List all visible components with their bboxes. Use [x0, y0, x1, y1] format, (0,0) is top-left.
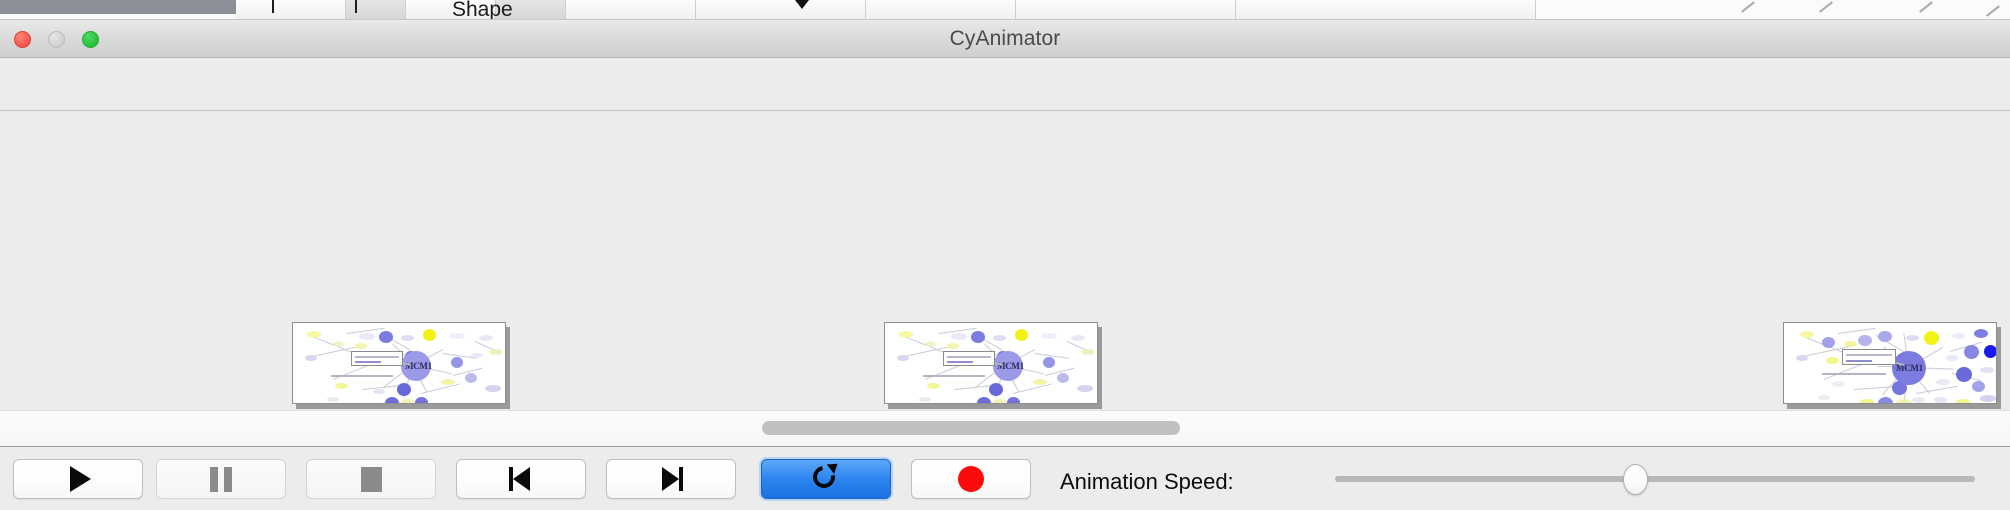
background-cell [236, 0, 346, 20]
background-window-label: Shape [452, 0, 513, 20]
annotation-callout [943, 351, 995, 366]
skip-forward-button[interactable] [606, 459, 736, 499]
loop-button[interactable] [761, 459, 891, 499]
slider-thumb[interactable] [1623, 464, 1648, 495]
background-window-strip: Shape [0, 0, 2010, 20]
frame-thumbnail[interactable]: MCM1 [1783, 322, 1997, 404]
background-diagonal-mark [1819, 1, 1833, 12]
window-title: CyAnimator [0, 20, 2010, 58]
skip-forward-icon [658, 466, 684, 492]
stop-button[interactable] [306, 459, 436, 499]
background-tick [272, 0, 274, 13]
record-icon [958, 466, 984, 492]
play-icon [70, 466, 91, 492]
background-diagonal-mark [1919, 1, 1933, 12]
background-cell [696, 0, 866, 20]
record-button[interactable] [911, 459, 1031, 499]
scrollbar-thumb[interactable] [762, 421, 1180, 435]
pause-icon [210, 467, 232, 492]
network-graph: MCM1 [293, 323, 505, 403]
annotation-callout [351, 351, 403, 366]
loop-icon [811, 464, 841, 494]
animation-speed-label: Animation Speed: [1060, 469, 1234, 495]
skip-back-icon [508, 466, 534, 492]
background-diagonal-mark [1741, 1, 1755, 12]
background-cell [866, 0, 1016, 20]
frame-thumbnail[interactable]: MCM1 [292, 322, 506, 404]
titlebar: CyAnimator [0, 20, 2010, 58]
timeline-scrollbar[interactable] [0, 410, 2010, 446]
pause-button[interactable] [156, 459, 286, 499]
network-graph: MCM1 [1784, 323, 1996, 403]
animation-speed-slider[interactable] [1335, 459, 1975, 499]
stop-icon [361, 467, 382, 492]
background-cell [1236, 0, 1536, 20]
timeline-panel[interactable]: MCM1 [0, 112, 2010, 410]
play-button[interactable] [13, 459, 143, 499]
background-cell [566, 0, 696, 20]
annotation-callout [1842, 349, 1896, 365]
slider-rail [1335, 476, 1975, 482]
cyanimator-window: Shape CyAnimator ✛ Clear All [0, 0, 2010, 510]
background-diagonal-mark [1986, 5, 2000, 16]
background-marker-icon [795, 0, 809, 9]
frame-thumbnail[interactable]: MCM1 [884, 322, 1098, 404]
toolbar: ✛ Clear All Frames [0, 58, 2010, 111]
playback-toolbar: Animation Speed: [0, 446, 2010, 510]
background-tick [355, 0, 357, 13]
skip-back-button[interactable] [456, 459, 586, 499]
background-cell [1016, 0, 1236, 20]
network-graph: MCM1 [885, 323, 1097, 403]
